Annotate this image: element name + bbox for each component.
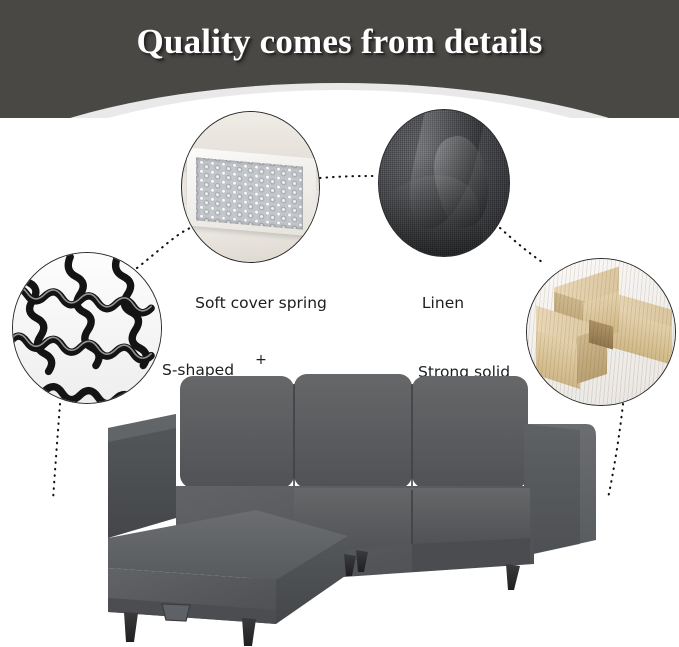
product-sofa — [80, 368, 610, 647]
feature-image-soft-cover-spring-foam — [181, 111, 320, 263]
seat-cushion-2 — [412, 488, 530, 544]
back-cushions — [180, 374, 528, 488]
connector-spring-to-sofa — [53, 404, 60, 500]
header-banner: Quality comes from details — [0, 0, 679, 118]
back-cushion-2 — [294, 374, 412, 488]
label-line-1: Soft cover spring — [161, 293, 361, 313]
storage-pull-handle — [162, 604, 190, 621]
back-cushion-3 — [412, 376, 528, 488]
left-arm — [108, 414, 176, 538]
pocket-coil-grid — [196, 157, 303, 229]
back-cushion-1 — [180, 376, 294, 488]
leg-front-right — [242, 618, 256, 646]
sofa-illustration — [80, 368, 610, 647]
linen-shading — [379, 110, 509, 256]
leg-right-front — [506, 564, 520, 590]
connector-wood-to-sofa — [608, 404, 623, 498]
leg-front-left — [124, 612, 138, 642]
feature-image-linen — [378, 109, 510, 257]
label-line-1: Linen — [378, 293, 508, 313]
connector-foam-to-linen — [320, 176, 378, 178]
right-arm — [524, 424, 596, 556]
page-title: Quality comes from details — [0, 22, 679, 62]
infographic-canvas: Quality comes from details — [0, 0, 679, 647]
